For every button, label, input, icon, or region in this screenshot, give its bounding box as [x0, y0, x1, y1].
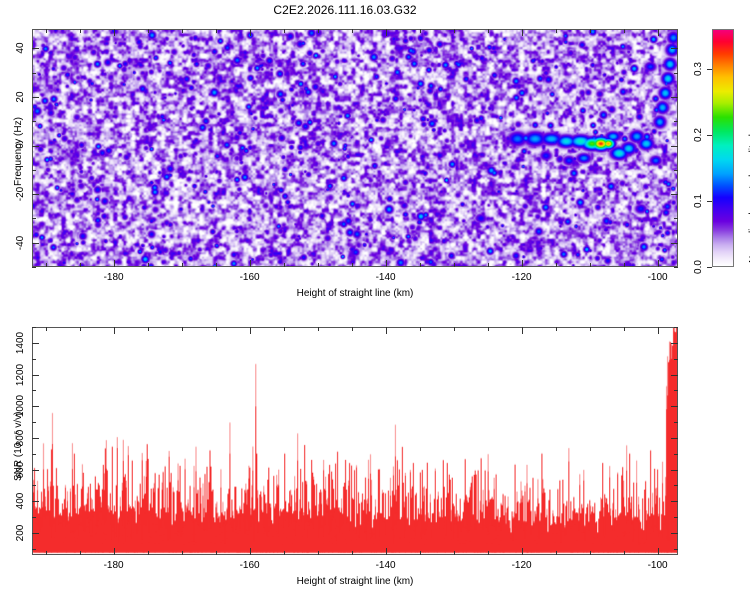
colorbar [712, 29, 734, 267]
snr-x-major-tick [658, 548, 659, 555]
snr-y-minor-tick [674, 327, 678, 328]
spectrogram-x-minor-tick [148, 263, 149, 267]
snr-x-tick-label: -160 [236, 560, 264, 571]
snr-axes [32, 327, 678, 555]
snr-y-minor-tick [32, 549, 36, 550]
snr-x-major-tick [386, 548, 387, 555]
snr-y-minor-tick [674, 549, 678, 550]
snr-y-minor-tick [32, 422, 36, 423]
spectrogram-y-major-tick [671, 194, 678, 195]
snr-x-minor-tick [182, 327, 183, 331]
spectrogram-y-major-tick [671, 97, 678, 98]
spectrogram-x-major-tick [250, 260, 251, 267]
colorbar-tick-label: 0.2 [693, 128, 704, 142]
spectrogram-y-minor-tick [32, 218, 36, 219]
spectrogram-y-major-tick [32, 243, 39, 244]
spectrogram-x-major-tick [386, 260, 387, 267]
spectrogram-x-minor-tick [590, 263, 591, 267]
snr-x-tick-label: -140 [372, 560, 400, 571]
snr-x-minor-tick [454, 551, 455, 555]
snr-y-major-tick [671, 438, 678, 439]
snr-x-minor-tick [590, 327, 591, 331]
spectrogram-x-minor-tick [284, 29, 285, 33]
spectrogram-x-minor-tick [624, 263, 625, 267]
spectrogram-x-minor-tick [148, 29, 149, 33]
colorbar-tick-label: 0.1 [693, 194, 704, 208]
spectrogram-axes [32, 29, 678, 267]
snr-y-minor-tick [32, 485, 36, 486]
snr-x-tick-label: -180 [100, 560, 128, 571]
snr-x-major-tick [522, 327, 523, 334]
snr-y-major-tick [32, 470, 39, 471]
snr-y-axis-label: SNR (10 ⁻⁶ v/v) [13, 412, 24, 481]
snr-y-minor-tick [674, 359, 678, 360]
spectrogram-y-axis-label: Frequency (Hz) [13, 117, 24, 186]
spectrogram-y-minor-tick [674, 218, 678, 219]
spectrogram-x-major-tick [114, 260, 115, 267]
snr-x-minor-tick [80, 551, 81, 555]
snr-y-tick-label: 200 [15, 524, 26, 541]
snr-x-minor-tick [454, 327, 455, 331]
colorbar-tick-label: 0.3 [693, 62, 704, 76]
snr-x-minor-tick [624, 327, 625, 331]
snr-y-major-tick [671, 470, 678, 471]
snr-x-minor-tick [46, 551, 47, 555]
snr-x-major-tick [386, 327, 387, 334]
snr-x-minor-tick [556, 551, 557, 555]
snr-y-major-tick [671, 406, 678, 407]
spectrogram-x-major-tick [658, 260, 659, 267]
spectrogram-x-tick-label: -160 [236, 272, 264, 283]
spectrogram-x-minor-tick [80, 29, 81, 33]
snr-y-minor-tick [674, 517, 678, 518]
snr-x-major-tick [114, 548, 115, 555]
spectrogram-y-tick-label: -20 [15, 187, 26, 201]
spectrogram-y-minor-tick [32, 121, 36, 122]
snr-y-minor-tick [32, 454, 36, 455]
spectrogram-x-minor-tick [590, 29, 591, 33]
snr-x-tick-label: -100 [644, 560, 672, 571]
snr-x-minor-tick [148, 551, 149, 555]
spectrogram-x-minor-tick [182, 263, 183, 267]
snr-x-minor-tick [182, 551, 183, 555]
spectrogram-x-axis-label: Height of straight line (km) [32, 288, 678, 299]
snr-x-minor-tick [420, 551, 421, 555]
page-title: C2E2.2026.111.16.03.G32 [0, 3, 690, 17]
spectrogram-x-minor-tick [352, 29, 353, 33]
spectrogram-x-minor-tick [46, 263, 47, 267]
spectrogram-x-minor-tick [454, 29, 455, 33]
snr-y-minor-tick [674, 485, 678, 486]
spectrogram-x-minor-tick [318, 263, 319, 267]
spectrogram-y-major-tick [671, 48, 678, 49]
snr-y-major-tick [32, 406, 39, 407]
snr-y-major-tick [32, 343, 39, 344]
colorbar-tick [707, 267, 712, 268]
snr-y-major-tick [671, 343, 678, 344]
spectrogram-x-major-tick [250, 29, 251, 36]
spectrogram-y-tick-label: -40 [15, 235, 26, 249]
snr-y-minor-tick [32, 390, 36, 391]
snr-x-major-tick [250, 327, 251, 334]
snr-y-major-tick [32, 438, 39, 439]
colorbar-tick-label: 0.0 [693, 260, 704, 274]
snr-x-major-tick [114, 327, 115, 334]
snr-x-minor-tick [352, 327, 353, 331]
snr-y-tick-label: 400 [15, 493, 26, 510]
colorbar-gradient [713, 30, 733, 266]
snr-x-minor-tick [46, 327, 47, 331]
snr-x-minor-tick [216, 327, 217, 331]
spectrogram-y-major-tick [671, 146, 678, 147]
spectrogram-y-minor-tick [674, 170, 678, 171]
spectrogram-y-major-tick [671, 243, 678, 244]
spectrogram-x-tick-label: -100 [644, 272, 672, 283]
spectrogram-x-tick-label: -140 [372, 272, 400, 283]
spectrogram-x-minor-tick [556, 263, 557, 267]
snr-x-minor-tick [284, 551, 285, 555]
spectrogram-x-minor-tick [420, 263, 421, 267]
snr-y-minor-tick [32, 359, 36, 360]
snr-x-major-tick [250, 548, 251, 555]
snr-x-axis-label: Height of straight line (km) [32, 576, 678, 587]
spectrogram-x-minor-tick [318, 29, 319, 33]
snr-y-tick-label: 1200 [15, 363, 26, 385]
snr-x-major-tick [658, 327, 659, 334]
snr-y-major-tick [671, 375, 678, 376]
spectrogram-y-minor-tick [674, 73, 678, 74]
snr-y-major-tick [32, 375, 39, 376]
spectrogram-y-tick-label: 40 [15, 43, 26, 54]
snr-x-minor-tick [556, 327, 557, 331]
snr-x-minor-tick [148, 327, 149, 331]
snr-y-minor-tick [32, 517, 36, 518]
spectrogram-x-minor-tick [352, 263, 353, 267]
spectrogram-x-minor-tick [46, 29, 47, 33]
snr-x-minor-tick [624, 551, 625, 555]
snr-x-minor-tick [488, 327, 489, 331]
spectrogram-y-major-tick [32, 48, 39, 49]
spectrogram-x-minor-tick [488, 263, 489, 267]
snr-x-minor-tick [318, 551, 319, 555]
colorbar-tick [707, 69, 712, 70]
spectrogram-x-minor-tick [284, 263, 285, 267]
spectrogram-x-minor-tick [420, 29, 421, 33]
snr-y-minor-tick [674, 454, 678, 455]
spectrogram-y-major-tick [32, 97, 39, 98]
snr-y-major-tick [32, 533, 39, 534]
colorbar-tick [707, 135, 712, 136]
spectrogram-y-tick-label: 20 [15, 91, 26, 102]
snr-y-major-tick [32, 501, 39, 502]
snr-x-minor-tick [216, 551, 217, 555]
snr-x-tick-label: -120 [508, 560, 536, 571]
spectrogram-x-minor-tick [216, 29, 217, 33]
spectrogram-x-tick-label: -120 [508, 272, 536, 283]
snr-y-tick-label: 1400 [15, 332, 26, 354]
snr-x-minor-tick [352, 551, 353, 555]
spectrogram-y-major-tick [32, 194, 39, 195]
snr-trace [33, 328, 677, 554]
snr-x-minor-tick [420, 327, 421, 331]
spectrogram-x-minor-tick [216, 263, 217, 267]
figure-canvas: C2E2.2026.111.16.03.G32 -180-160-140-120… [0, 0, 750, 600]
snr-y-minor-tick [674, 390, 678, 391]
snr-y-minor-tick [32, 327, 36, 328]
spectrogram-image [33, 30, 677, 266]
spectrogram-x-minor-tick [624, 29, 625, 33]
spectrogram-y-minor-tick [674, 267, 678, 268]
spectrogram-y-minor-tick [32, 73, 36, 74]
spectrogram-x-major-tick [658, 29, 659, 36]
spectrogram-y-minor-tick [32, 170, 36, 171]
spectrogram-x-minor-tick [454, 263, 455, 267]
snr-y-major-tick [671, 501, 678, 502]
snr-x-minor-tick [590, 551, 591, 555]
spectrogram-y-minor-tick [32, 267, 36, 268]
spectrogram-x-major-tick [114, 29, 115, 36]
snr-x-minor-tick [488, 551, 489, 555]
spectrogram-y-minor-tick [674, 121, 678, 122]
spectrogram-x-major-tick [522, 29, 523, 36]
spectrogram-x-minor-tick [556, 29, 557, 33]
spectrogram-x-minor-tick [182, 29, 183, 33]
snr-y-major-tick [671, 533, 678, 534]
spectrogram-x-major-tick [386, 29, 387, 36]
snr-x-major-tick [522, 548, 523, 555]
snr-y-minor-tick [674, 422, 678, 423]
spectrogram-x-minor-tick [488, 29, 489, 33]
spectrogram-x-major-tick [522, 260, 523, 267]
spectrogram-y-major-tick [32, 146, 39, 147]
spectrogram-x-tick-label: -180 [100, 272, 128, 283]
snr-x-minor-tick [80, 327, 81, 331]
snr-x-minor-tick [284, 327, 285, 331]
spectrogram-x-minor-tick [80, 263, 81, 267]
colorbar-tick [707, 201, 712, 202]
snr-x-minor-tick [318, 327, 319, 331]
